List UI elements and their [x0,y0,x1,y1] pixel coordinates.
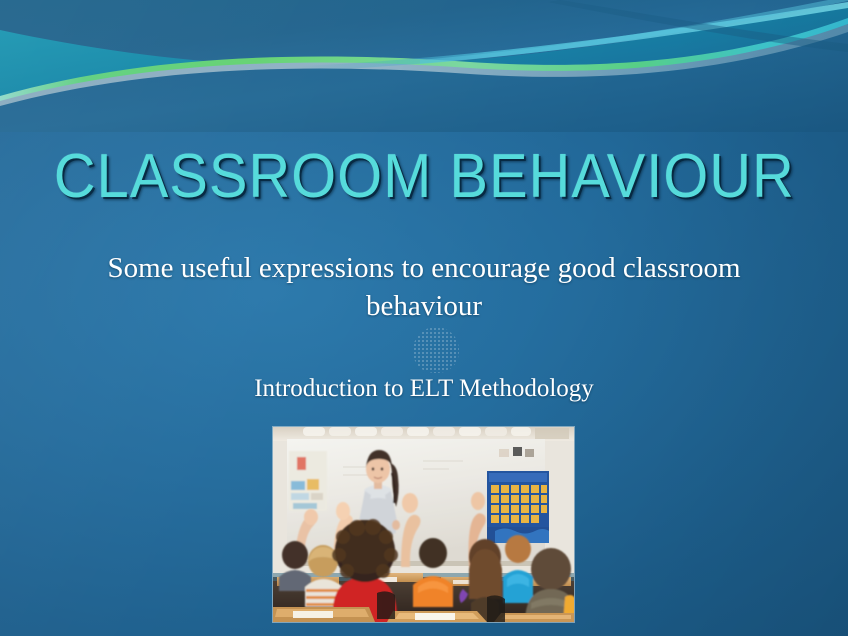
subtitle-main-text: Some useful expressions to encourage goo… [84,250,764,325]
classroom-photo [273,427,574,622]
subtitle-secondary-text: Introduction to ELT Methodology [84,373,764,404]
presentation-slide: CLASSROOM BEHAVIOUR Some useful expressi… [0,0,848,636]
title-placeholder: CLASSROOM BEHAVIOUR [0,146,848,208]
subtitle-placeholder: Some useful expressions to encourage goo… [84,250,764,405]
page-title: CLASSROOM BEHAVIOUR [53,146,794,208]
header-swoosh-decoration [0,0,848,132]
